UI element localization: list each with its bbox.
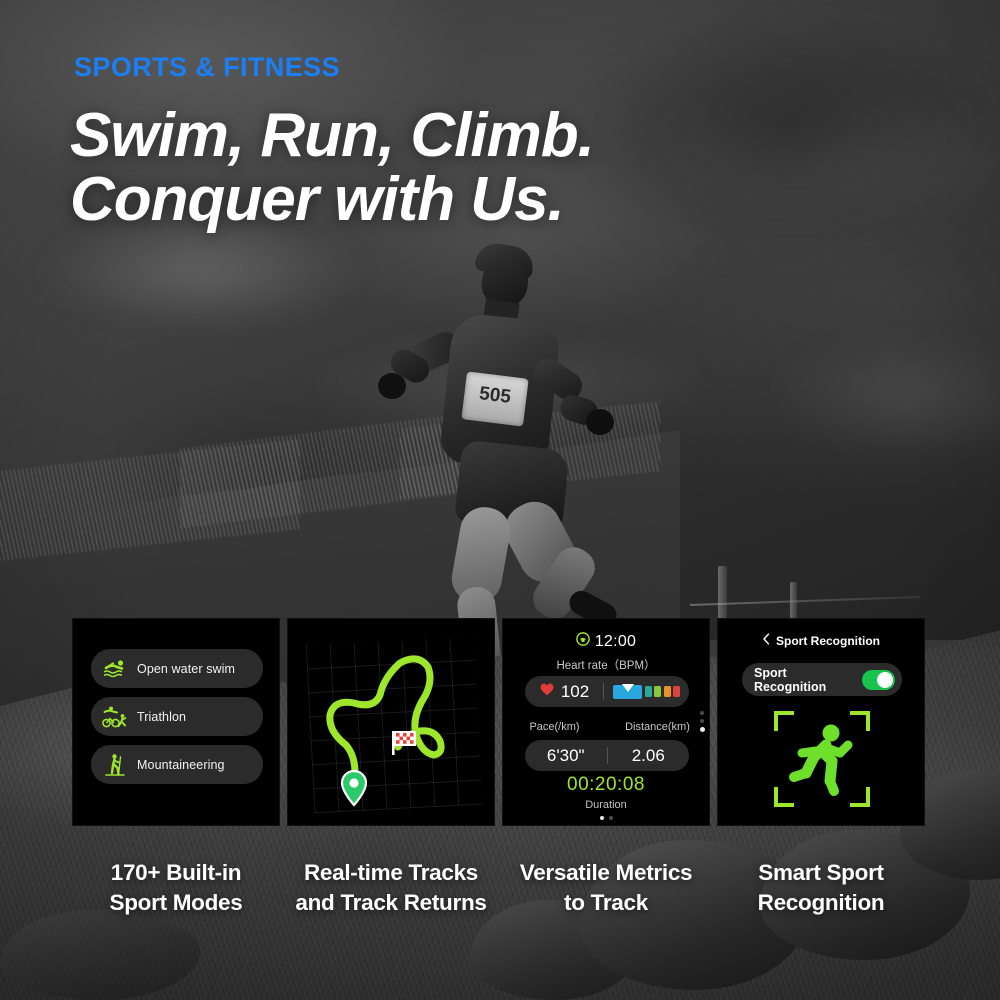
distance-caption: Distance(km) <box>606 721 709 733</box>
heart-rate-caption: Heart rate（BPM） <box>503 657 709 673</box>
headline-line-2: Conquer with Us. <box>70 168 830 232</box>
card-sport-modes[interactable]: Open water swim Tria <box>72 618 280 826</box>
heart-rate-pill[interactable]: 102 <box>525 676 689 707</box>
list-item-label: Mountaineering <box>137 758 225 772</box>
caption-line-1: Real-time Tracks <box>287 858 495 888</box>
zone-segment <box>673 686 680 697</box>
list-item[interactable]: Open water swim <box>91 649 263 688</box>
caption-line-1: 170+ Built-in <box>72 858 280 888</box>
card-versatile-metrics[interactable]: 12:00 Heart rate（BPM） 102 <box>502 618 710 826</box>
mountaineering-icon <box>102 753 128 777</box>
caption-sport-recognition: Smart Sport Recognition <box>717 858 925 938</box>
caption-line-2: to Track <box>502 888 710 918</box>
heart-rate-zone-bar <box>604 685 689 699</box>
page-dot <box>609 816 613 820</box>
caption-line-2: Recognition <box>717 888 925 918</box>
toggle-knob <box>877 672 893 688</box>
watch-time: 12:00 <box>595 633 637 651</box>
zone-segment <box>664 686 671 697</box>
caption-row: 170+ Built-in Sport Modes Real-time Trac… <box>72 858 928 938</box>
caption-line-1: Smart Sport <box>717 858 925 888</box>
list-item-label: Open water swim <box>137 662 235 676</box>
location-pin-icon <box>342 771 366 805</box>
list-item[interactable]: Mountaineering <box>91 745 263 784</box>
card-sport-recognition[interactable]: Sport Recognition Sport Recognition <box>717 618 925 826</box>
heart-icon <box>539 682 555 701</box>
page-title: Swim, Run, Climb. Conquer with Us. <box>70 104 830 232</box>
headline-line-1: Swim, Run, Climb. <box>70 104 830 168</box>
distance-value: 2.06 <box>608 746 690 766</box>
caption-sport-modes: 170+ Built-in Sport Modes <box>72 858 280 938</box>
checkered-flag-icon <box>392 731 416 755</box>
triathlon-icon <box>102 705 128 729</box>
pace-value: 6'30" <box>525 746 607 766</box>
list-item[interactable]: Triathlon <box>91 697 263 736</box>
zone-segment <box>654 686 661 697</box>
feature-card-row: Open water swim Tria <box>72 618 928 826</box>
page-indicator <box>503 816 709 820</box>
card-real-time-track[interactable] <box>287 618 495 826</box>
caption-line-2: Sport Modes <box>72 888 280 918</box>
duration-value: 00:20:08 <box>503 774 709 796</box>
screen-title: Sport Recognition <box>776 634 880 648</box>
sport-recognition-toggle[interactable] <box>862 670 895 690</box>
detection-frame-icon <box>774 711 870 807</box>
gps-signal-icon <box>576 632 590 651</box>
pace-caption: Pace(/km) <box>503 721 606 733</box>
sport-recognition-setting-row[interactable]: Sport Recognition <box>742 663 902 696</box>
setting-label: Sport Recognition <box>754 666 862 694</box>
route-map[interactable] <box>288 619 494 825</box>
running-person-icon <box>774 711 870 807</box>
zone-segment <box>645 686 652 697</box>
pace-distance-captions: Pace(/km) Distance(km) <box>503 721 709 733</box>
duration-caption: Duration <box>503 799 709 811</box>
sport-mode-list: Open water swim Tria <box>91 649 263 784</box>
watch-status-row: 12:00 <box>503 632 709 651</box>
eyebrow-label: SPORTS & FITNESS <box>74 52 340 83</box>
zone-current <box>613 685 642 699</box>
screen-header: Sport Recognition <box>718 633 924 648</box>
route-path <box>330 659 441 785</box>
pace-distance-pill[interactable]: 6'30" 2.06 <box>525 740 689 771</box>
caption-line-1: Versatile Metrics <box>502 858 710 888</box>
caption-real-time-track: Real-time Tracks and Track Returns <box>287 858 495 938</box>
caption-line-2: and Track Returns <box>287 888 495 918</box>
open-water-swim-icon <box>102 657 128 681</box>
heart-rate-value: 102 <box>561 682 589 702</box>
chevron-left-icon[interactable] <box>762 633 770 648</box>
page-dot <box>600 816 604 820</box>
list-item-label: Triathlon <box>137 710 186 724</box>
caption-versatile-metrics: Versatile Metrics to Track <box>502 858 710 938</box>
